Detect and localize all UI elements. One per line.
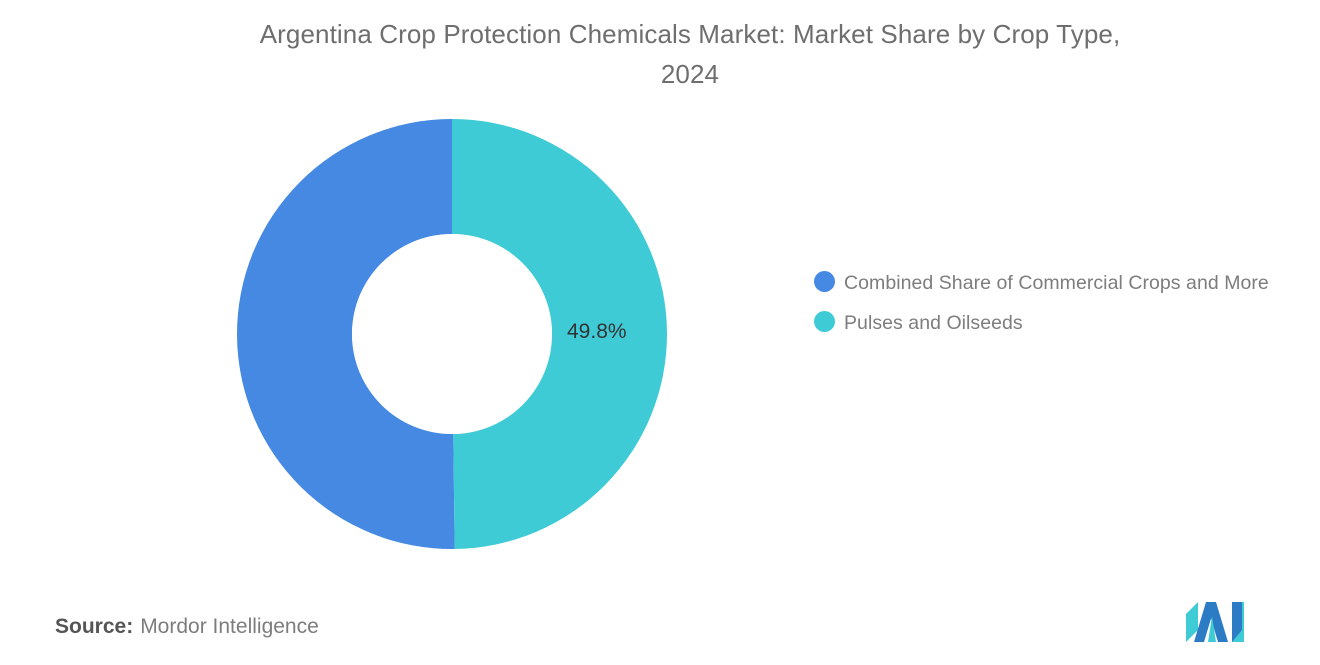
legend-item-combined-share[interactable]: Combined Share of Commercial Crops and M… — [814, 268, 1294, 299]
chart-title-line-1: Argentina Crop Protection Chemicals Mark… — [260, 19, 1121, 49]
source-attribution: Source:Mordor Intelligence — [55, 612, 319, 642]
chart-title: Argentina Crop Protection Chemicals Mark… — [170, 14, 1210, 94]
donut-center-hole — [352, 234, 552, 434]
source-label: Source: — [55, 615, 133, 638]
mordor-intelligence-logo-icon — [1186, 600, 1254, 642]
source-name: Mordor Intelligence — [140, 615, 319, 638]
data-label-pulses-and-oilseeds: 49.8% — [567, 320, 627, 344]
chart-figure: Argentina Crop Protection Chemicals Mark… — [0, 0, 1320, 665]
chart-title-line-2: 2024 — [661, 59, 719, 89]
legend-item-pulses-and-oilseeds[interactable]: Pulses and Oilseeds — [814, 308, 1294, 339]
legend-label-pulses-and-oilseeds: Pulses and Oilseeds — [844, 308, 1023, 339]
legend-swatch-icon-combined-share — [814, 271, 835, 292]
legend-swatch-icon-pulses-and-oilseeds — [814, 311, 835, 332]
chart-legend: Combined Share of Commercial Crops and M… — [814, 268, 1294, 348]
legend-label-combined-share: Combined Share of Commercial Crops and M… — [844, 268, 1269, 299]
